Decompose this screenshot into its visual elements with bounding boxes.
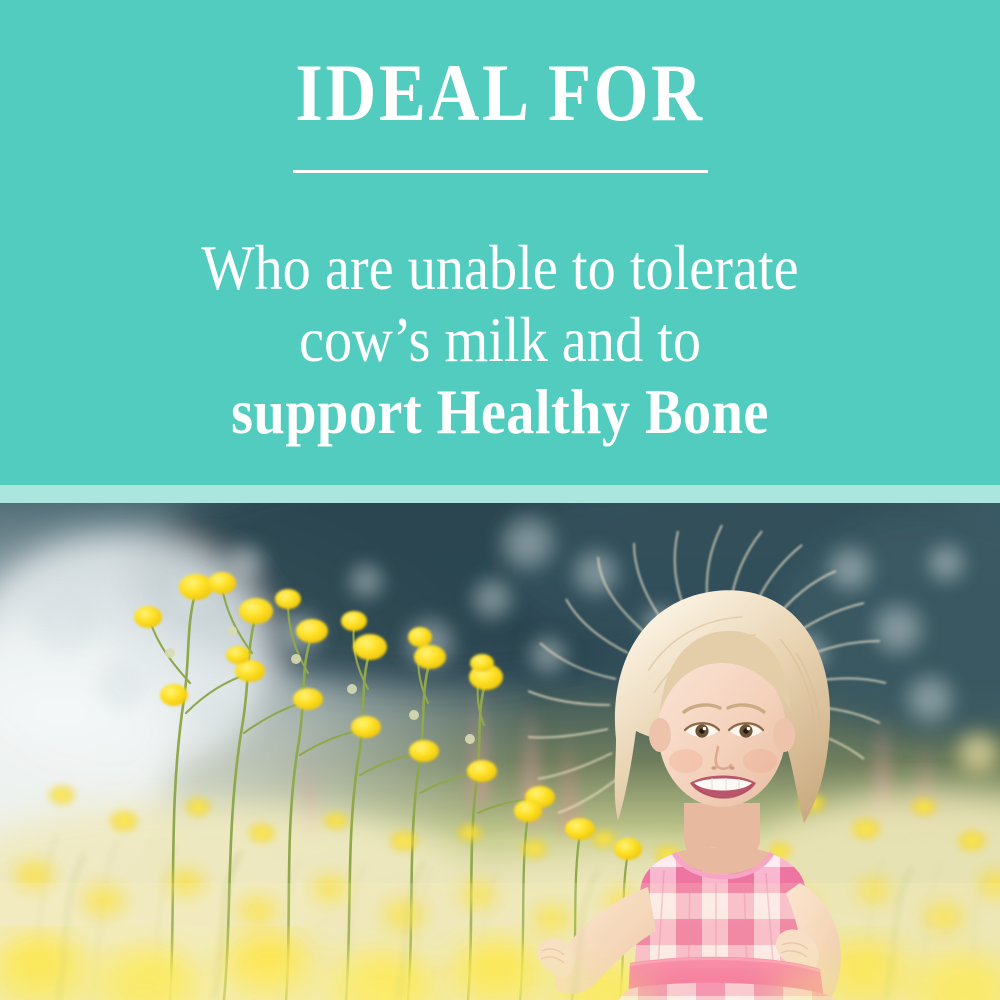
separator-band [0,485,1000,503]
ear-left [649,718,671,752]
body-line-3-emphasis: support Healthy Bone [60,376,940,448]
title-divider-rule [293,170,708,173]
infographic-page: IDEAL FOR Who are unable to tolerate cow… [0,0,1000,1000]
ear-right [773,718,795,752]
hero-photo [0,503,1000,1000]
meadow-photo-illustration [0,503,1000,1000]
body-line-2: cow’s milk and to [60,304,940,376]
teal-header-panel: IDEAL FOR Who are unable to tolerate cow… [0,0,1000,485]
body-line-1: Who are unable to tolerate [60,232,940,304]
body-copy-block: Who are unable to tolerate cow’s milk an… [0,232,1000,448]
page-title: IDEAL FOR [70,52,930,134]
